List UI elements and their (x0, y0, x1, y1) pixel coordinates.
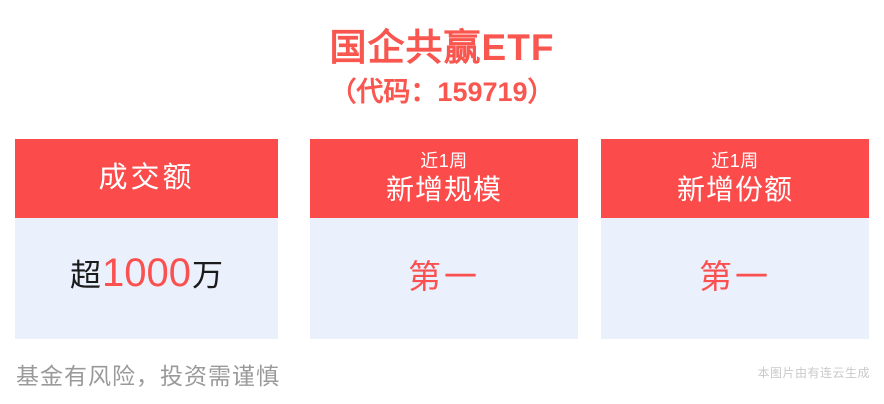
metric-card-turnover: 成交额 超 1000 万 (15, 139, 278, 339)
value-rank-new-shares: 第一 (699, 250, 771, 298)
card-header-new-shares: 近1周 新增份额 (601, 139, 869, 218)
card-value-new-scale: 第一 (408, 250, 480, 298)
fund-code-subtitle: （代码：159719） (0, 70, 884, 108)
card-title-new-scale: 新增规模 (386, 172, 502, 207)
card-value-new-shares: 第一 (699, 250, 771, 298)
value-rank-new-scale: 第一 (408, 250, 480, 298)
card-value-turnover: 超 1000 万 (70, 250, 223, 296)
card-eyebrow-new-shares: 近1周 (711, 150, 759, 173)
card-title-turnover: 成交额 (98, 160, 194, 196)
card-eyebrow-new-scale: 近1周 (420, 150, 468, 173)
value-suffix-turnover: 万 (192, 250, 223, 295)
card-body-turnover: 超 1000 万 (15, 218, 278, 339)
metric-cards-row: 成交额 超 1000 万 近1周 新增规模 第一 近1周 新增份额 (0, 139, 884, 339)
watermark-credit: 本图片由有连云生成 (757, 364, 870, 381)
value-number-turnover: 1000 (101, 251, 192, 296)
card-body-new-shares: 第一 (601, 218, 869, 339)
card-title-new-shares: 新增份额 (677, 172, 793, 207)
card-body-new-scale: 第一 (310, 218, 578, 339)
page-title: 国企共赢ETF (0, 0, 884, 70)
card-header-turnover: 成交额 (15, 139, 278, 218)
etf-promo-poster: { "header": { "title": "国企共赢ETF", "subti… (0, 0, 884, 404)
metric-card-new-scale: 近1周 新增规模 第一 (310, 139, 578, 339)
risk-disclaimer: 基金有风险，投资需谨慎 (16, 357, 280, 391)
value-prefix-turnover: 超 (70, 250, 101, 295)
metric-card-new-shares: 近1周 新增份额 第一 (601, 139, 869, 339)
poster-header: 国企共赢ETF （代码：159719） (0, 0, 884, 109)
card-header-new-scale: 近1周 新增规模 (310, 139, 578, 218)
